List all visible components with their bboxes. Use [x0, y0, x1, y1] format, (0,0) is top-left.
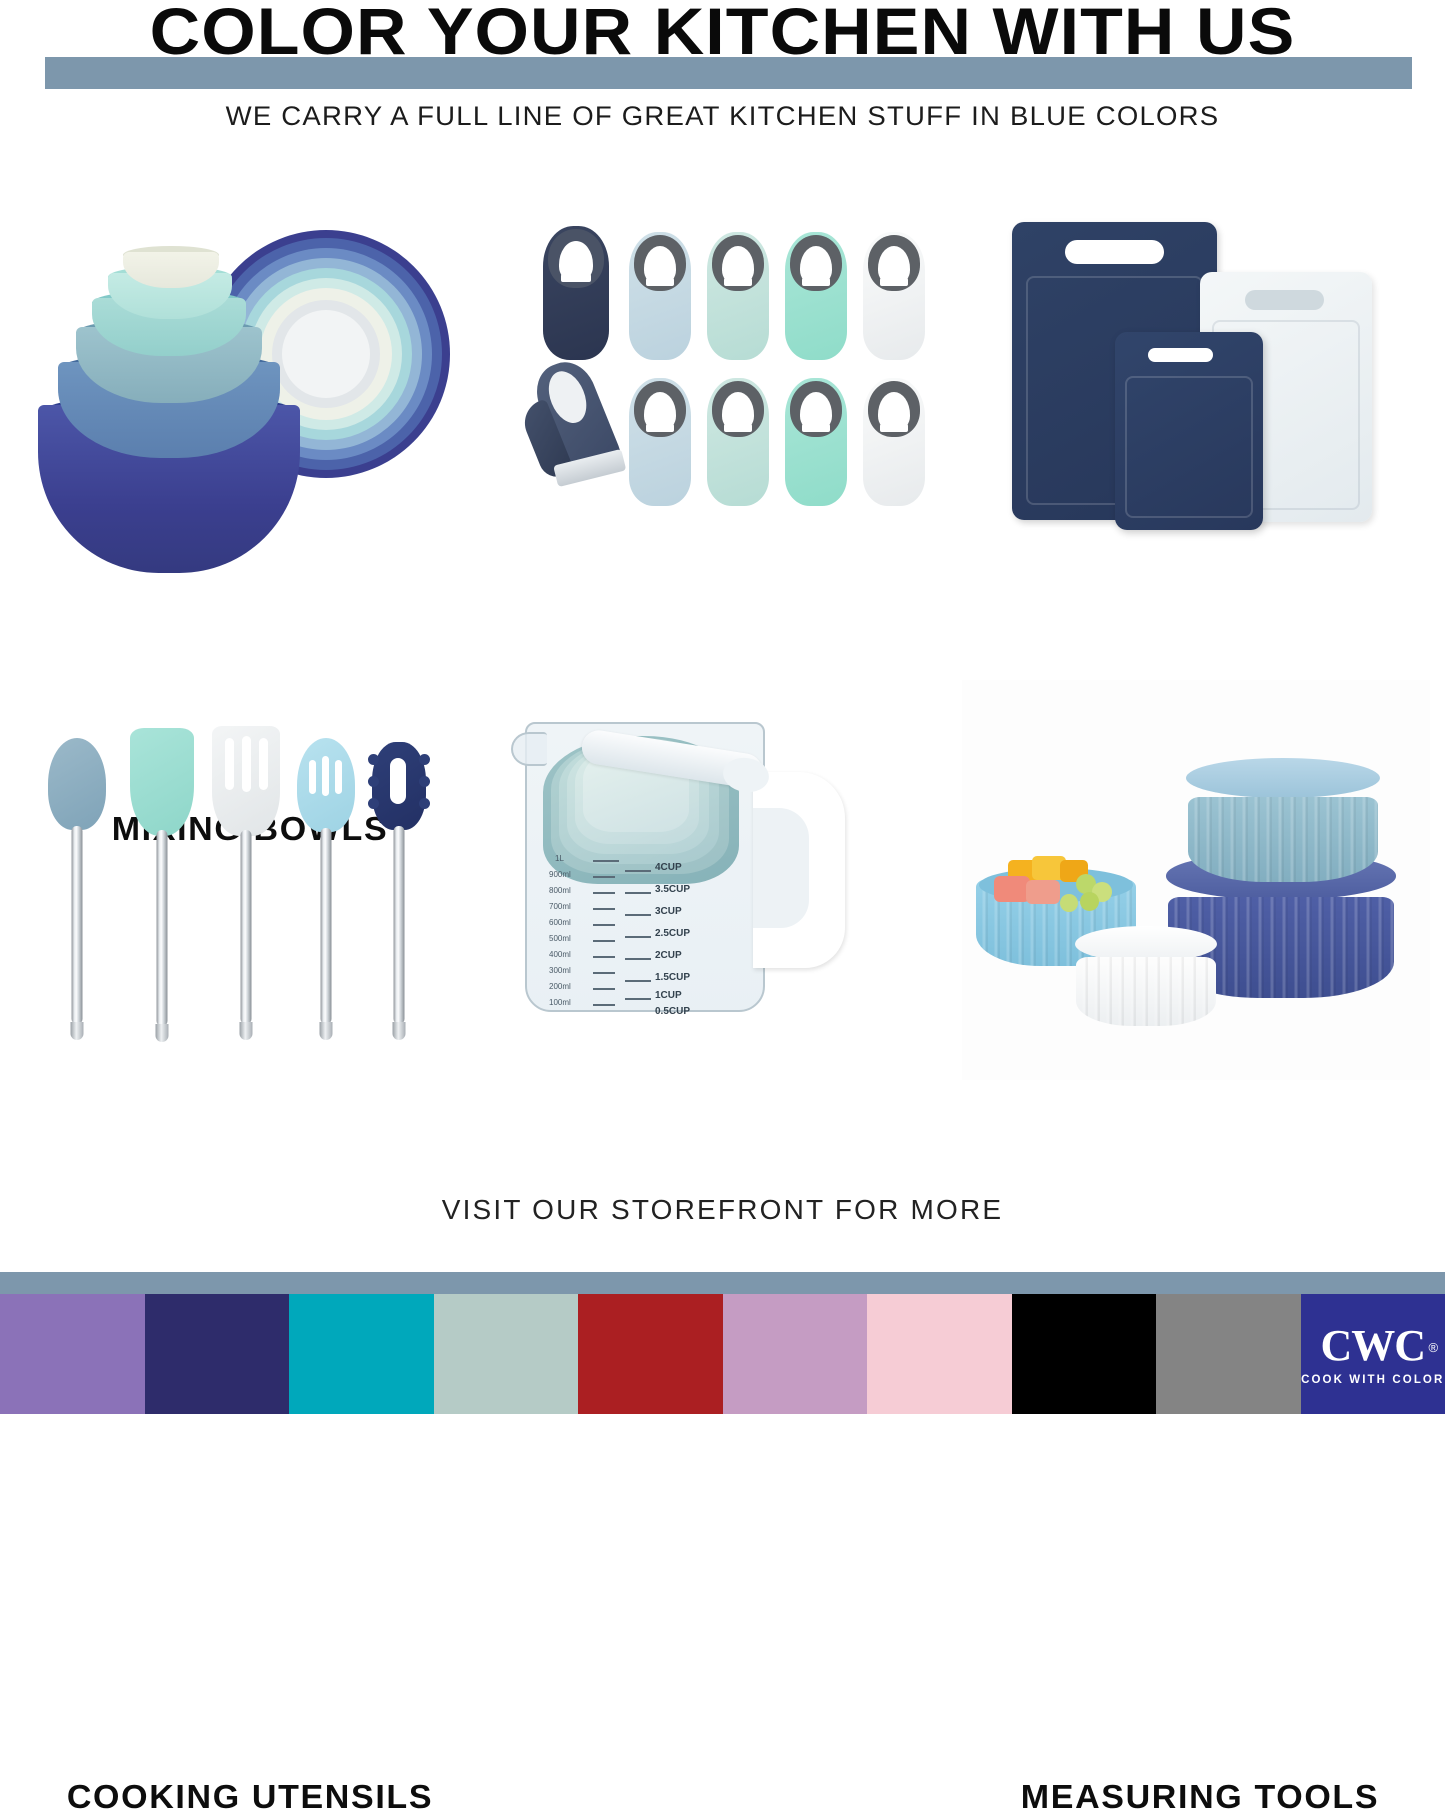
logo-tagline-text: COOK WITH COLOR [1301, 1374, 1444, 1386]
swatch-indigo [145, 1294, 290, 1414]
mc-metric-8: 200ml [549, 982, 571, 991]
swatch-black [1012, 1294, 1157, 1414]
logo-wordmark-text: CWC® [1320, 1323, 1425, 1369]
cooking-utensils-illustration [10, 680, 470, 1080]
swatch-purple [0, 1294, 145, 1414]
product-tile-prep-bowls[interactable]: PREP BOWLS [962, 680, 1430, 1080]
product-tile-cutting-boards[interactable]: CUTTING BOARDS [960, 210, 1430, 590]
bag-clips-illustration [485, 210, 945, 590]
product-tile-measuring-tools[interactable]: 1L 900ml 800ml 700ml 600ml 500ml 400ml 3… [485, 680, 945, 1080]
mc-metric-3: 700ml [549, 902, 571, 911]
color-swatch-strip: CWC® COOK WITH COLOR [0, 1294, 1445, 1414]
mc-metric-5: 500ml [549, 934, 571, 943]
mc-cup-4: 2CUP [655, 950, 682, 961]
mc-metric-9: 100ml [549, 998, 571, 1007]
page-title: COLOR YOUR KITCHEN WITH US [0, 0, 1445, 70]
brand-logo[interactable]: CWC® COOK WITH COLOR [1301, 1294, 1445, 1414]
swatch-gray [1156, 1294, 1301, 1414]
product-tile-bag-clips[interactable]: BAG CLIPS [485, 210, 945, 590]
swatch-blush-pink [867, 1294, 1012, 1414]
measuring-tools-illustration: 1L 900ml 800ml 700ml 600ml 500ml 400ml 3… [485, 680, 945, 1080]
mc-metric-4: 600ml [549, 918, 571, 927]
mc-cup-2: 3CUP [655, 906, 682, 917]
mc-metric-7: 300ml [549, 966, 571, 975]
mc-cup-7: 0.5CUP [655, 1006, 690, 1017]
swatch-sage [434, 1294, 579, 1414]
swatch-teal [289, 1294, 434, 1414]
mc-cup-0: 4CUP [655, 862, 682, 873]
mc-metric-0: 1L [555, 854, 564, 863]
prep-bowls-illustration [962, 680, 1430, 1080]
mc-cup-5: 1.5CUP [655, 972, 690, 983]
header-banner: COLOR YOUR KITCHEN WITH US WE CARRY A FU… [0, 0, 1445, 150]
mc-metric-1: 900ml [549, 870, 571, 879]
storefront-callout[interactable]: VISIT OUR STOREFRONT FOR MORE [0, 1194, 1445, 1226]
page-subtitle: WE CARRY A FULL LINE OF GREAT KITCHEN ST… [0, 100, 1445, 132]
registered-trademark-icon: ® [1428, 1325, 1438, 1371]
logo-letters: CWC [1320, 1321, 1425, 1370]
product-tile-mixing-bowls[interactable]: MIXING BOWLS [10, 210, 470, 590]
mixing-bowls-illustration [10, 210, 470, 590]
mc-cup-1: 3.5CUP [655, 884, 690, 895]
mc-metric-2: 800ml [549, 886, 571, 895]
swatch-crimson [578, 1294, 723, 1414]
product-label-measuring-tools: MEASURING TOOLS [963, 1778, 1437, 1816]
swatch-orchid [723, 1294, 868, 1414]
product-tile-cooking-utensils[interactable]: COOKING UTENSILS [10, 680, 470, 1080]
mc-cup-3: 2.5CUP [655, 928, 690, 939]
cutting-boards-illustration [960, 210, 1430, 590]
mc-cup-6: 1CUP [655, 990, 682, 1001]
mc-metric-6: 400ml [549, 950, 571, 959]
product-label-cooking-utensils: COOKING UTENSILS [13, 1778, 487, 1816]
